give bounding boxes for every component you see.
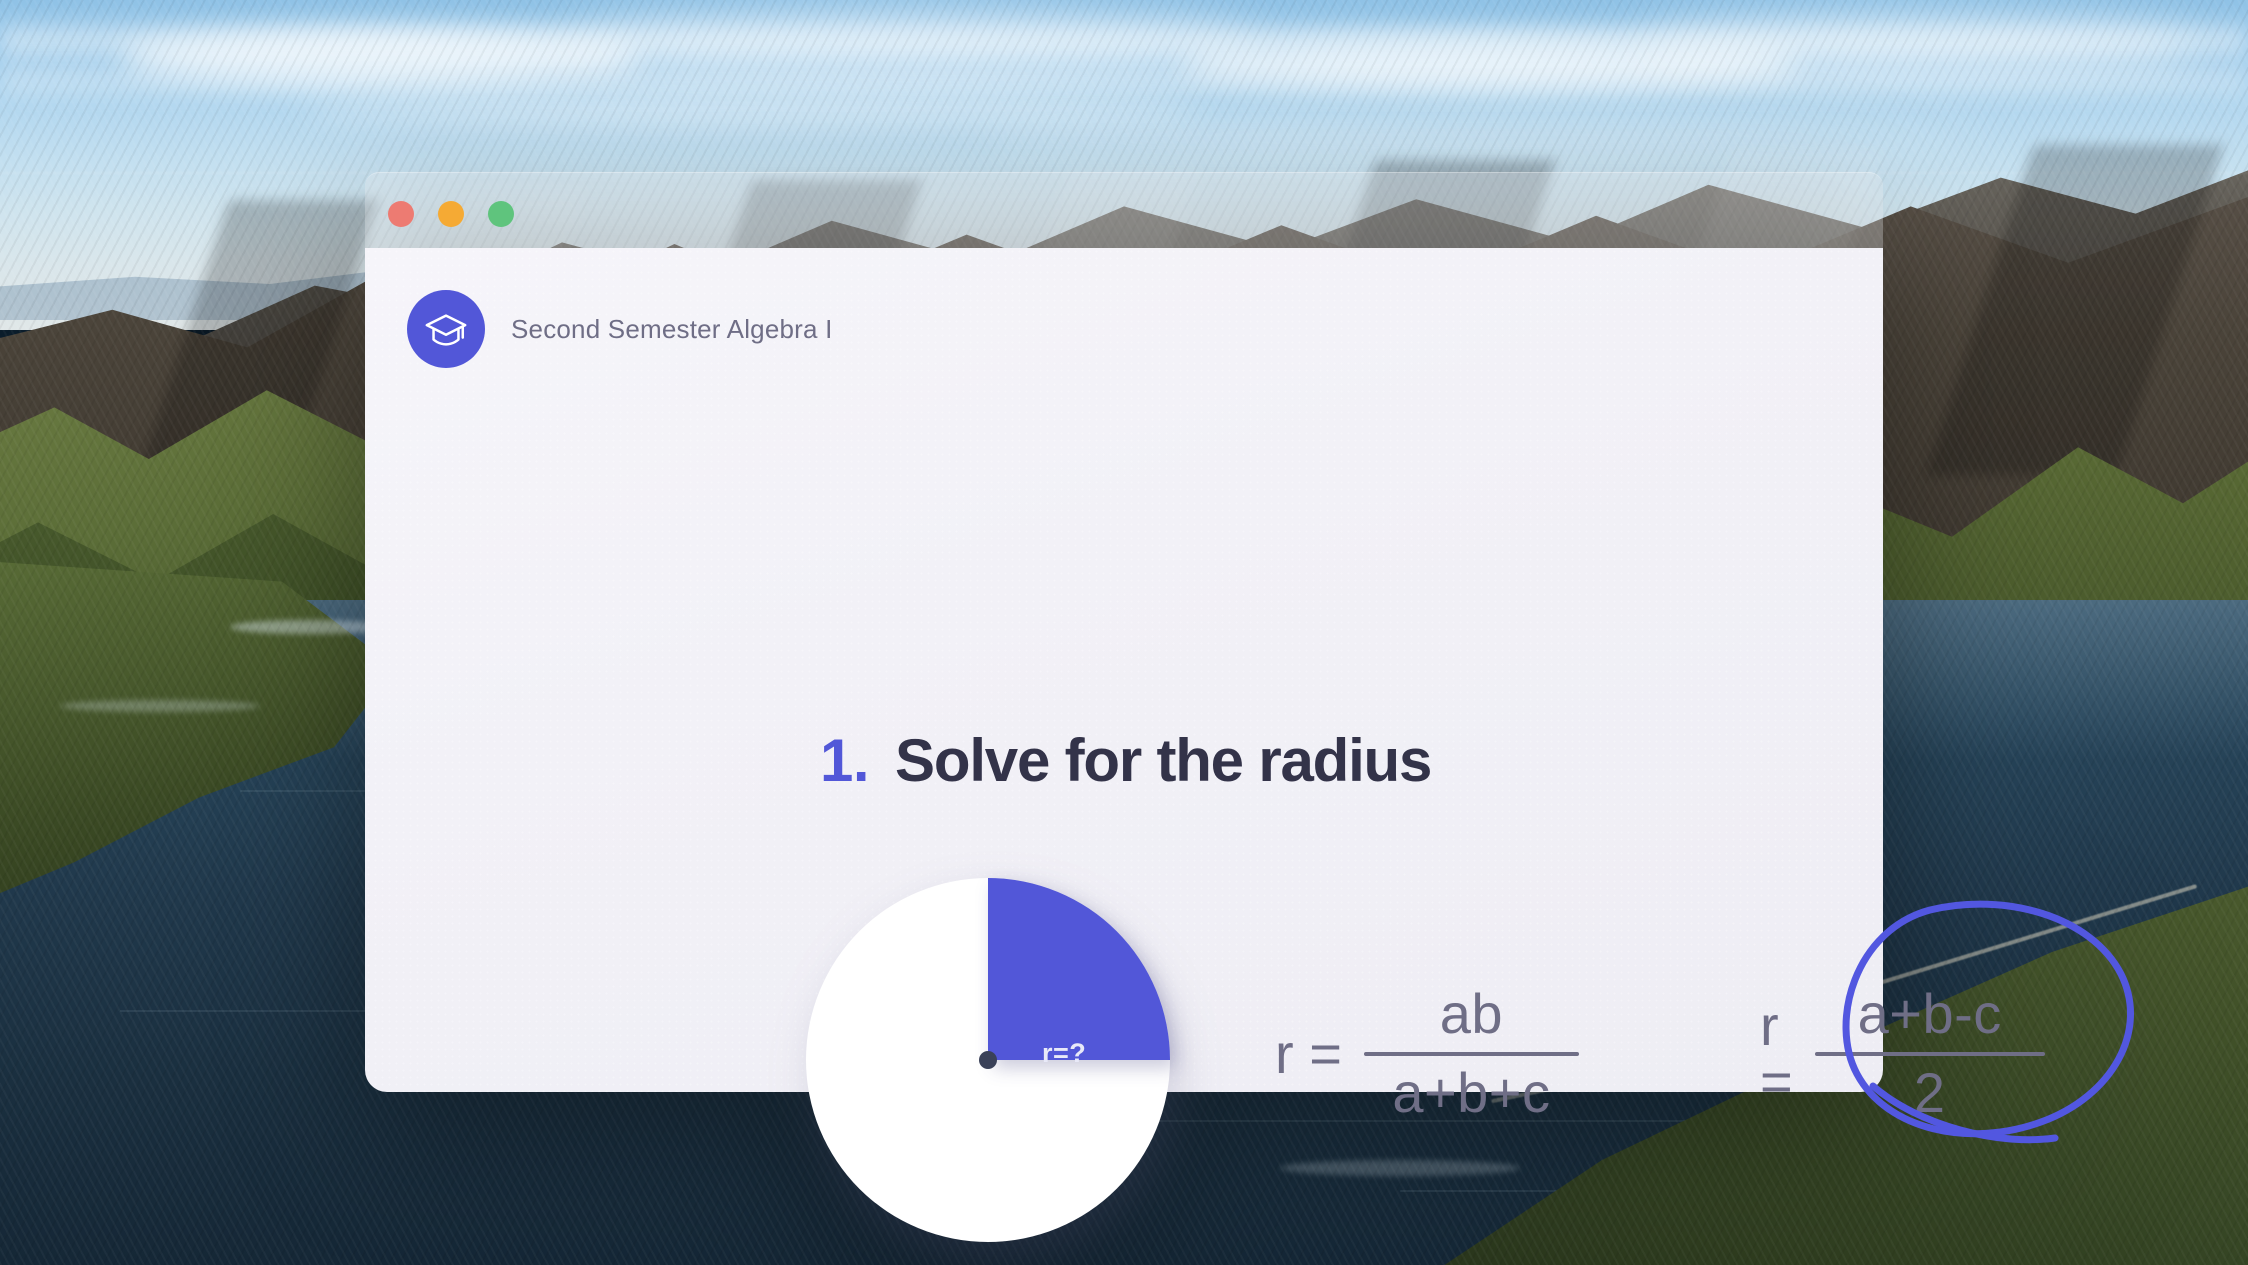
formula-expression-answer: r = a+b-c 2	[1760, 983, 2045, 1124]
fraction-denominator: 2	[1914, 1062, 1946, 1125]
fraction: ab a+b+c	[1364, 983, 1579, 1124]
formula-lhs: r =	[1760, 998, 1793, 1110]
cloud	[120, 30, 640, 84]
surf	[60, 700, 260, 712]
surf	[1280, 1160, 1520, 1176]
maximize-button[interactable]	[488, 201, 514, 227]
course-title: Second Semester Algebra I	[511, 314, 833, 345]
app-header: Second Semester Algebra I	[407, 290, 833, 368]
fraction-numerator: a+b-c	[1858, 983, 2002, 1046]
cloud	[300, 96, 1200, 126]
window-controls[interactable]	[388, 201, 514, 227]
fraction-denominator: a+b+c	[1392, 1062, 1550, 1125]
question-text: Solve for the radius	[895, 726, 1431, 795]
formula-expression: r = ab a+b+c	[1275, 983, 1579, 1124]
fraction-bar	[1815, 1052, 2045, 1056]
fraction-bar	[1364, 1052, 1579, 1056]
formula-lhs: r =	[1275, 1026, 1342, 1082]
question-heading: 1. Solve for the radius	[820, 726, 1431, 795]
slide-card: Second Semester Algebra I 1. Solve for t…	[365, 248, 1883, 1092]
window-titlebar[interactable]	[365, 172, 1883, 248]
pie-slice-radius	[988, 878, 1170, 1060]
pie-center-dot	[979, 1051, 997, 1069]
graduation-cap-icon	[407, 290, 485, 368]
fraction-numerator: ab	[1440, 983, 1503, 1046]
minimize-button[interactable]	[438, 201, 464, 227]
cloud	[980, 120, 1980, 154]
app-window[interactable]: Second Semester Algebra I 1. Solve for t…	[365, 172, 1883, 1092]
pie-slice-label: r=?	[1042, 1038, 1086, 1069]
close-button[interactable]	[388, 201, 414, 227]
cloud	[560, 14, 1260, 74]
cloud	[1640, 18, 2200, 74]
question-number: 1.	[820, 726, 869, 795]
fraction: a+b-c 2	[1815, 983, 2045, 1124]
pie-chart: r=?	[806, 878, 1170, 1242]
